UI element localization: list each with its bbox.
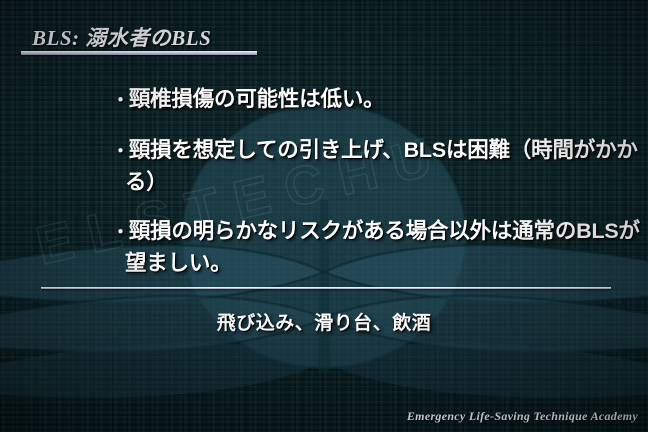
list-item-text: 頸損の明らかなリスクがある場合以外は通常のBLSが望ましい。 bbox=[125, 219, 640, 275]
slide-footer: Emergency Life-Saving Technique Academy bbox=[407, 409, 638, 424]
bullet-marker-icon: ・ bbox=[112, 223, 129, 242]
caption-separator-rule bbox=[41, 287, 611, 289]
list-item-text: 頸椎損傷の可能性は低い。 bbox=[129, 87, 385, 111]
list-item: ・頸損の明らかなリスクがある場合以外は通常のBLSが望ましい。 bbox=[112, 216, 640, 278]
bullet-marker-icon: ・ bbox=[112, 91, 129, 110]
bullet-list: ・頸椎損傷の可能性は低い。 ・頸損を想定しての引き上げ、BLSは困難（時間がかか… bbox=[112, 84, 640, 278]
list-item-text: 頸損を想定しての引き上げ、BLSは困難（時間がかかる） bbox=[125, 138, 638, 194]
slide-title: BLS: 溺水者のBLS bbox=[32, 22, 211, 52]
bullet-marker-icon: ・ bbox=[112, 142, 129, 161]
list-item: ・頸椎損傷の可能性は低い。 bbox=[112, 84, 640, 116]
slide-caption: 飛び込み、滑り台、飲酒 bbox=[0, 308, 648, 335]
title-underline-rule bbox=[21, 51, 257, 55]
presentation-slide: ELSTECHU BLS: 溺水者のBLS ・頸椎損傷の可能性は低い。 ・頸損を… bbox=[0, 0, 648, 432]
list-item: ・頸損を想定しての引き上げ、BLSは困難（時間がかかる） bbox=[112, 135, 640, 197]
